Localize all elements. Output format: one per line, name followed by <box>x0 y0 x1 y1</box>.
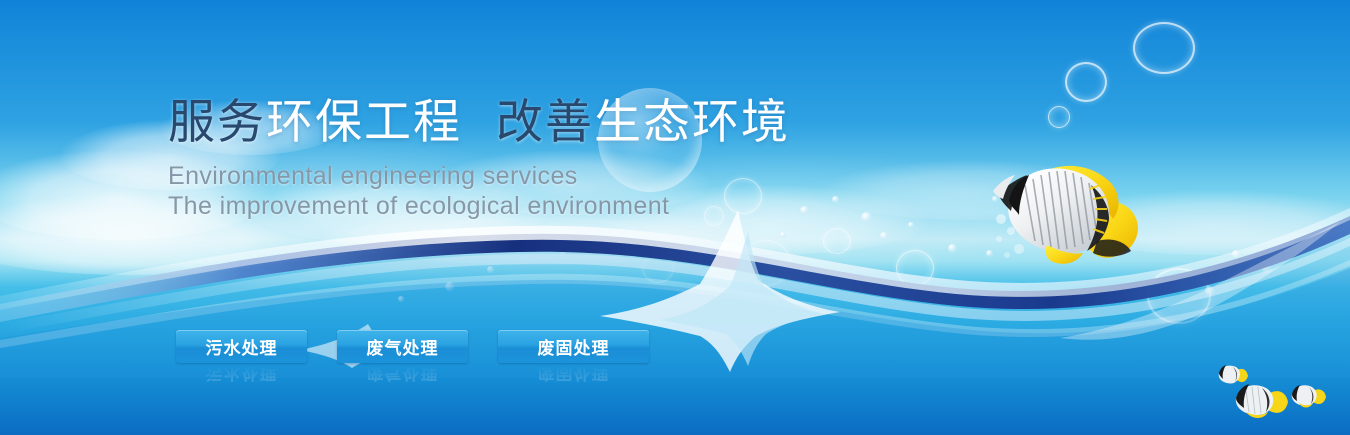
butterflyfish-icon <box>1287 381 1327 411</box>
solid-waste-treatment-button[interactable]: 废固处理 <box>498 330 649 363</box>
wastewater-treatment-button[interactable]: 污水处理 <box>176 330 307 363</box>
subtitle-line-1: Environmental engineering services <box>168 161 790 191</box>
headline-part2-dark: 改善 <box>496 95 594 148</box>
bubble-graphic <box>598 88 702 192</box>
bubble-graphic <box>1133 22 1195 74</box>
waste-gas-treatment-button[interactable]: 废气处理 <box>337 330 468 363</box>
butterflyfish-icon <box>985 145 1145 270</box>
button-group-wastewater: 污水处理 污水处理 <box>176 330 307 387</box>
wastewater-button-reflection: 污水处理 <box>176 365 307 387</box>
hero-banner: 服务环保工程改善生态环境 Environmental engineering s… <box>0 0 1350 435</box>
headline-part1-light: 环保工程 <box>266 95 462 148</box>
category-buttons: 污水处理 污水处理 废气处理 废气处理 废固处理 废固处理 <box>176 330 649 387</box>
button-group-waste-gas: 废气处理 废气处理 <box>337 330 468 387</box>
button-group-solid-waste: 废固处理 废固处理 <box>498 330 649 387</box>
bubble-graphic <box>1048 106 1070 128</box>
waste-gas-button-reflection: 废气处理 <box>337 365 468 387</box>
butterflyfish-icon <box>1215 362 1249 388</box>
solid-waste-button-reflection: 废固处理 <box>498 365 649 387</box>
headline-part1-dark: 服务 <box>168 95 266 148</box>
bubble-graphic <box>1065 62 1107 102</box>
